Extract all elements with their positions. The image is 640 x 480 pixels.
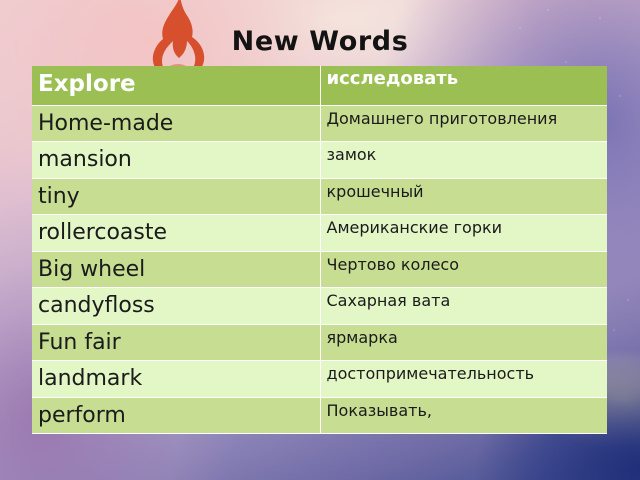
table-header-row: Explore исследовать bbox=[32, 66, 607, 105]
table-row: rollercoaste Американские горки bbox=[32, 215, 607, 252]
cell-russian: ярмарка bbox=[320, 324, 607, 361]
table-row: perform Показывать, bbox=[32, 397, 607, 434]
cell-english: candyfloss bbox=[32, 288, 320, 325]
cell-english: mansion bbox=[32, 142, 320, 179]
table-row: tiny крошечный bbox=[32, 178, 607, 215]
cell-russian: Показывать, bbox=[320, 397, 607, 434]
table-row: candyfloss Сахарная вата bbox=[32, 288, 607, 325]
cell-russian: Домашнего приготовления bbox=[320, 105, 607, 142]
table-row: landmark достопримечательность bbox=[32, 361, 607, 398]
cell-english: Home-made bbox=[32, 105, 320, 142]
header-cell-english: Explore bbox=[32, 66, 320, 105]
cell-russian: Чертово колесо bbox=[320, 251, 607, 288]
page-title: New Words bbox=[0, 26, 640, 57]
table-row: mansion замок bbox=[32, 142, 607, 179]
table-row: Home-made Домашнего приготовления bbox=[32, 105, 607, 142]
cell-english: rollercoaste bbox=[32, 215, 320, 252]
cell-russian: крошечный bbox=[320, 178, 607, 215]
cell-russian: Сахарная вата bbox=[320, 288, 607, 325]
header-cell-russian: исследовать bbox=[320, 66, 607, 105]
slide-canvas: New Words Explore исследовать Home-made … bbox=[0, 0, 640, 480]
cell-english: landmark bbox=[32, 361, 320, 398]
cell-russian: замок bbox=[320, 142, 607, 179]
table-row: Big wheel Чертово колесо bbox=[32, 251, 607, 288]
cell-english: perform bbox=[32, 397, 320, 434]
cell-english: tiny bbox=[32, 178, 320, 215]
cell-russian: достопримечательность bbox=[320, 361, 607, 398]
cell-russian: Американские горки bbox=[320, 215, 607, 252]
table-row: Fun fair ярмарка bbox=[32, 324, 607, 361]
vocabulary-table: Explore исследовать Home-made Домашнего … bbox=[32, 66, 607, 434]
cell-english: Fun fair bbox=[32, 324, 320, 361]
cell-english: Big wheel bbox=[32, 251, 320, 288]
